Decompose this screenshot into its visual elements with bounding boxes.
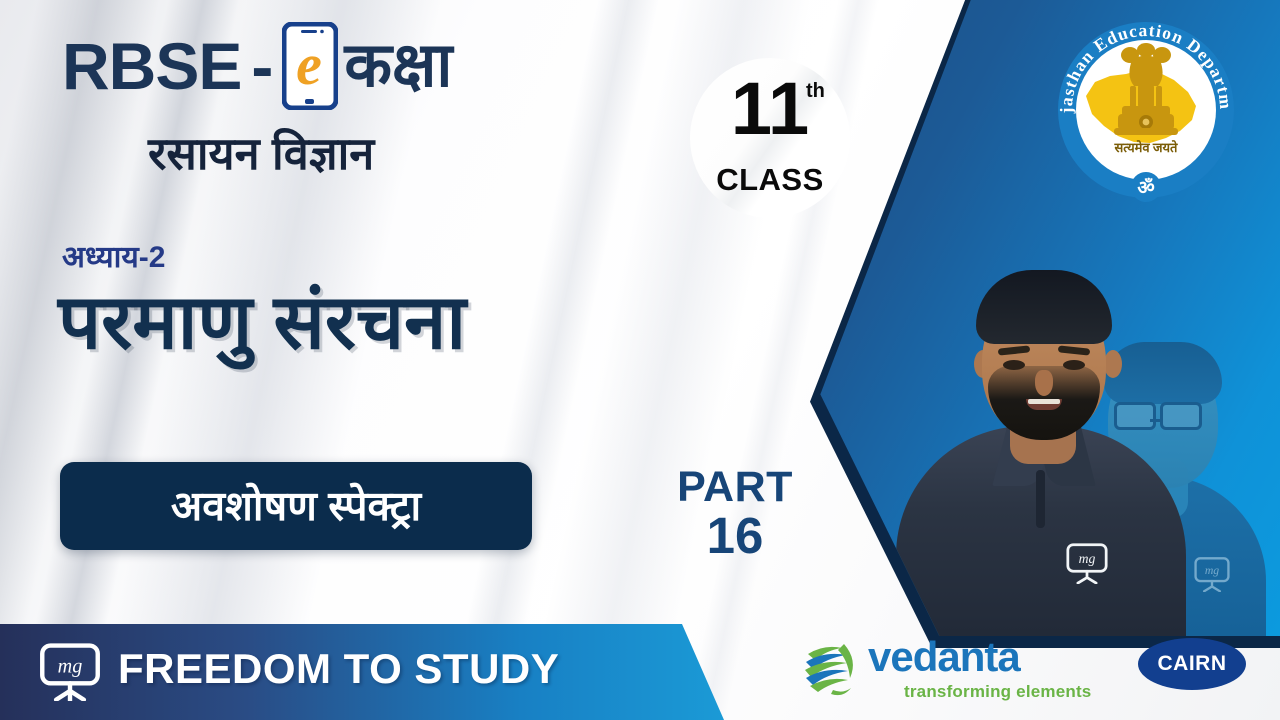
instructor-front-eye-right [1063,360,1085,370]
subject-title: रसायन विज्ञान [148,131,374,176]
part-indicator: PART 16 [650,466,820,562]
vedanta-tagline: transforming elements [904,682,1091,702]
cairn-wordmark: CAIRN [1158,652,1227,676]
class-ordinal-suffix: th [806,80,825,103]
part-label: PART [650,466,820,510]
brand-separator: - [251,33,272,99]
instructor-front-ear-right [1104,350,1122,378]
e-phone-icon: e [282,22,338,110]
topic-badge: अवशोषण स्पेक्ट्रा [60,462,532,550]
platform-name: कक्षा [344,35,452,97]
svg-text:e: e [296,32,322,97]
rajasthan-education-department-logo: Rajasthan Education Department सत्यमेव ज… [1046,10,1246,210]
footer-tagline: FREEDOM TO STUDY [118,648,559,690]
instructor-front-eye-left [1003,360,1025,370]
thumbnail-canvas: mg mg [0,0,1280,720]
instructor-front-hair [976,270,1112,344]
chapter-title: परमाणु संरचना [58,285,466,361]
board-name: RBSE [62,33,241,99]
svg-text:mg: mg [1079,551,1096,566]
sponsor-cairn: CAIRN [1138,638,1246,690]
mg-shirt-logo-front: mg [1064,542,1110,584]
chapter-number: अध्याय-2 [62,243,165,273]
class-word: CLASS [690,162,850,198]
svg-text:ॐ: ॐ [1137,177,1154,199]
vedanta-globe-icon [800,636,862,698]
vedanta-wordmark: vedanta [868,636,1020,678]
dept-motto: सत्यमेव जयते [1114,140,1179,155]
mg-mark-text: mg [58,656,83,678]
instructor-front: mg [896,166,1186,636]
mg-shirt-logo-back: mg [1192,556,1232,592]
svg-text:mg: mg [1205,564,1219,577]
part-number: 16 [650,510,820,562]
brand-header: RBSE - e कक्षा [62,22,453,110]
instructor-front-placket [1036,470,1045,528]
topic-label: अवशोषण स्पेक्ट्रा [171,486,421,527]
instructor-front-nose [1035,370,1053,396]
instructor-front-teeth [1028,399,1060,404]
mg-brand-logo: mg [38,643,102,701]
sponsor-vedanta: vedanta transforming elements [800,632,1100,708]
